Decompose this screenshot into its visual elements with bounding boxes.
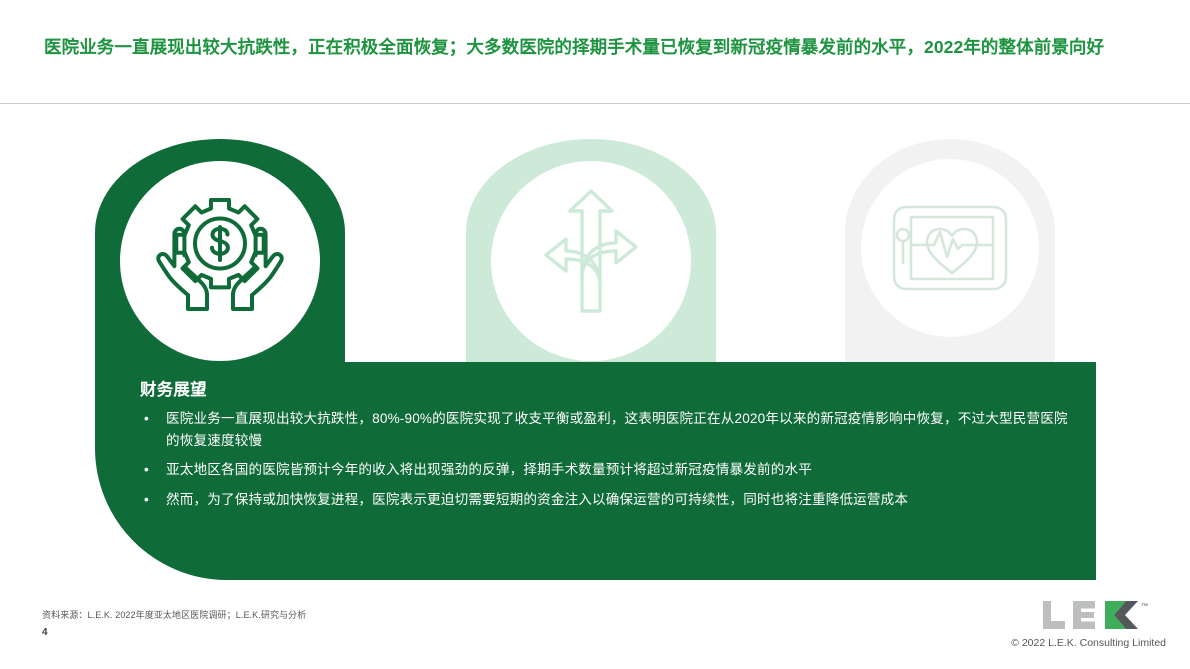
source-note: 资料来源：L.E.K. 2022年度亚太地区医院调研；L.E.K.研究与分析: [42, 609, 306, 621]
panel-heading: 财务展望: [140, 379, 1070, 401]
header-divider: [0, 103, 1190, 104]
trademark-symbol: ™: [1141, 603, 1148, 610]
copyright-notice: © 2022 L.E.K. Consulting Limited: [1011, 637, 1166, 650]
panel-bullet-list: • 医院业务一直展现出较大抗跌性，80%-90%的医院实现了收支平衡或盈利，这表…: [140, 408, 1070, 510]
list-item-text: 亚太地区各国的医院皆预计今年的收入将出现强劲的反弹，择期手术数量预计将超过新冠疫…: [166, 462, 812, 477]
icon-panel-financial-outlook[interactable]: [95, 139, 345, 362]
three-way-arrows-icon: [524, 189, 658, 323]
list-item-text: 医院业务一直展现出较大抗跌性，80%-90%的医院实现了收支平衡或盈利，这表明医…: [166, 411, 1068, 448]
list-item: • 亚太地区各国的医院皆预计今年的收入将出现强劲的反弹，择期手术数量预计将超过新…: [140, 459, 1070, 481]
lek-logo: ™: [1041, 599, 1159, 631]
list-item-text: 然而，为了保持或加快恢复进程，医院表示更迫切需要短期的资金注入以确保运营的可持续…: [166, 492, 908, 507]
list-item: • 然而，为了保持或加快恢复进程，医院表示更迫切需要短期的资金注入以确保运营的可…: [140, 489, 1070, 511]
bullet-marker-icon: •: [144, 408, 149, 430]
tablet-heart-ecg-icon: [892, 205, 1008, 291]
financial-outlook-panel: 财务展望 • 医院业务一直展现出较大抗跌性，80%-90%的医院实现了收支平衡或…: [95, 362, 1096, 580]
hands-holding-gear-dollar-icon: [155, 194, 285, 326]
list-item: • 医院业务一直展现出较大抗跌性，80%-90%的医院实现了收支平衡或盈利，这表…: [140, 408, 1070, 451]
slide-header: 医院业务一直展现出较大抗跌性，正在积极全面恢复；大多数医院的择期手术量已恢复到新…: [0, 0, 1190, 104]
page-number: 4: [42, 627, 48, 639]
bullet-marker-icon: •: [144, 459, 149, 481]
page-title: 医院业务一直展现出较大抗跌性，正在积极全面恢复；大多数医院的择期手术量已恢复到新…: [44, 34, 1154, 60]
icon-panel-monitoring[interactable]: [845, 139, 1055, 362]
icon-panel-direction[interactable]: [466, 139, 716, 362]
bullet-marker-icon: •: [144, 489, 149, 511]
